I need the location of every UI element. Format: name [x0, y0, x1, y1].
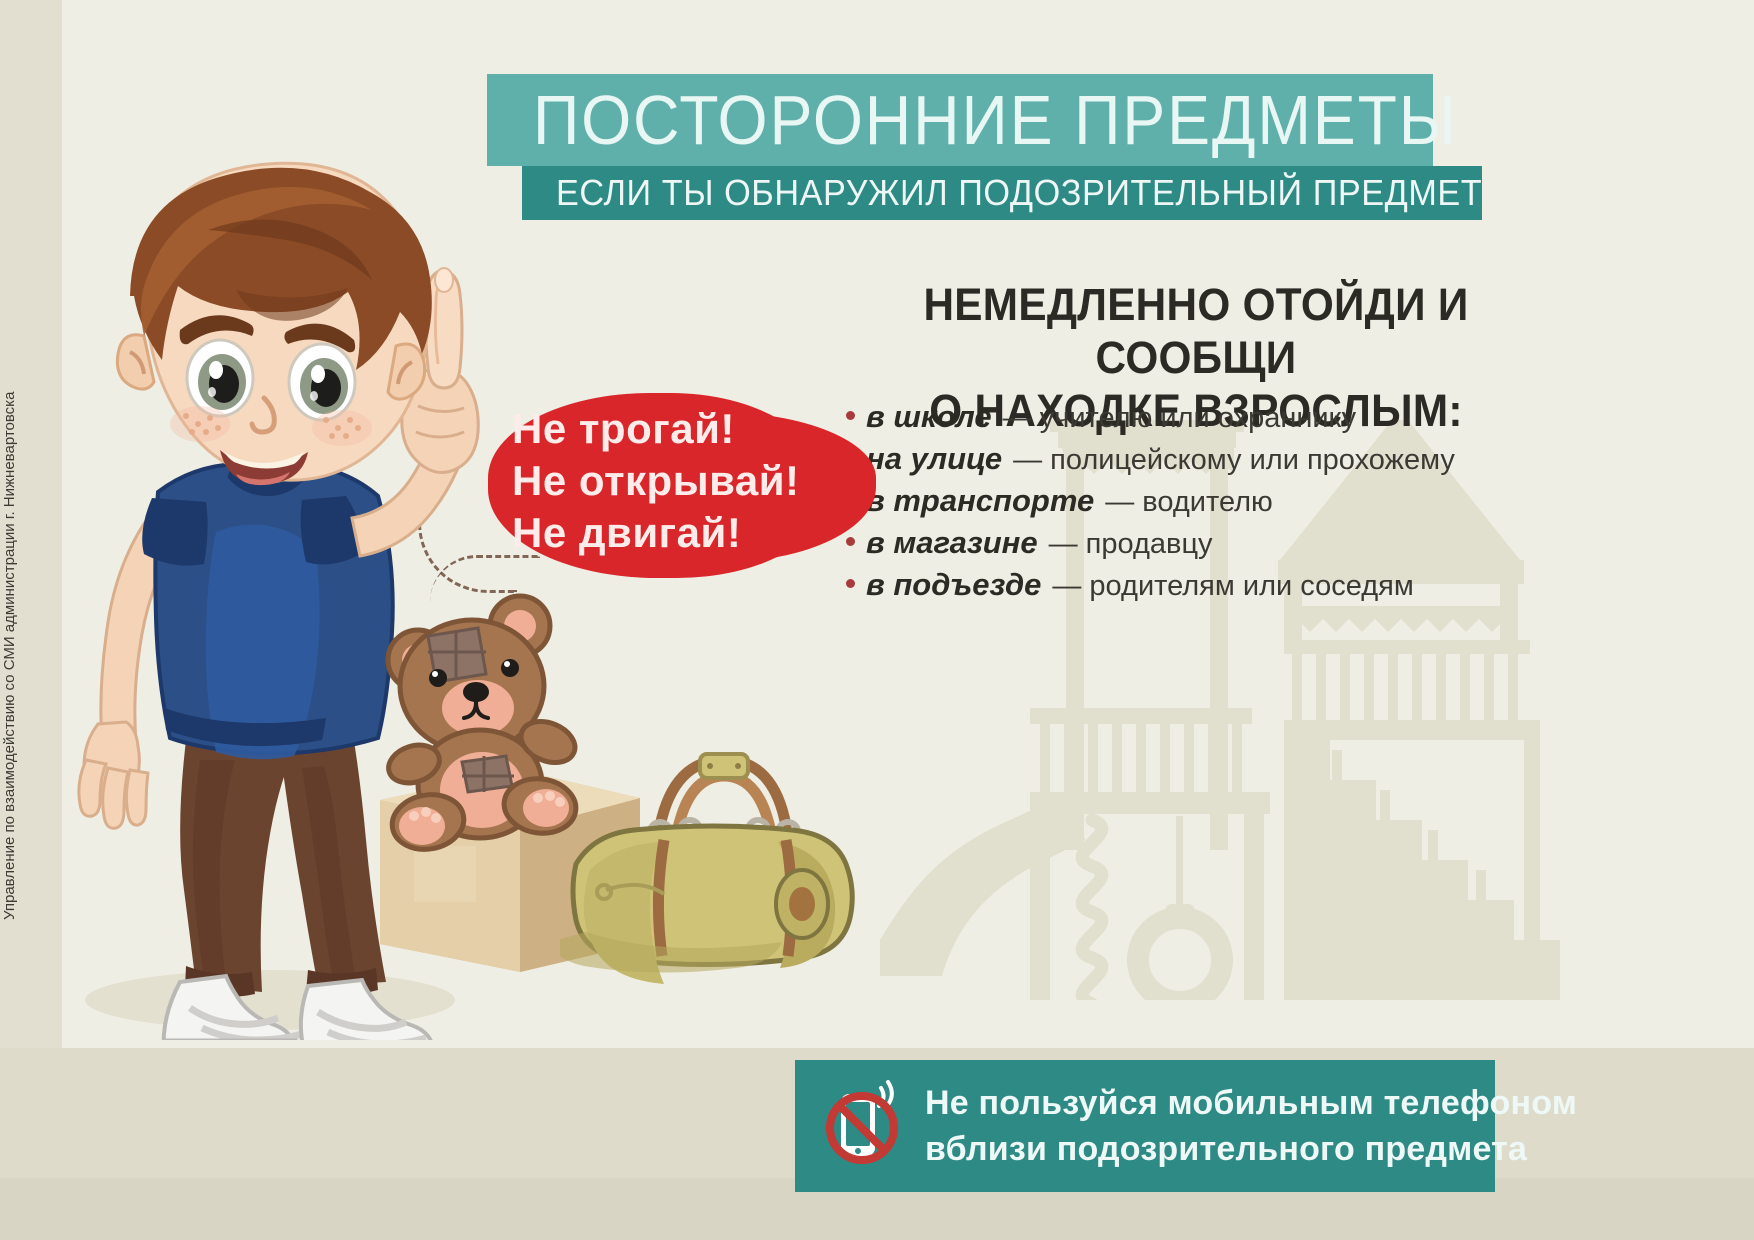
subtitle-banner: ЕСЛИ ТЫ ОБНАРУЖИЛ ПОДОЗРИТЕЛЬНЫЙ ПРЕДМЕТ — [522, 166, 1482, 220]
list-item-detail: — родителям или соседям — [1052, 565, 1413, 607]
list-item-detail: — продавцу — [1049, 523, 1213, 565]
list-item-place: в магазине — [866, 522, 1038, 564]
warning-line-1: Не трогай! — [512, 403, 862, 455]
poster-subtitle: ЕСЛИ ТЫ ОБНАРУЖИЛ ПОДОЗРИТЕЛЬНЫЙ ПРЕДМЕТ — [556, 166, 1428, 220]
bullet-dot-icon — [846, 579, 855, 588]
list-item-place: в подъезде — [866, 564, 1041, 606]
mobile-warning-line1: Не пользуйся мобильным телефоном — [925, 1080, 1485, 1126]
list-item-place: на улице — [866, 438, 1002, 480]
list-item: на улице — полицейскому или прохожему — [846, 438, 1546, 480]
list-item: в магазине — продавцу — [846, 522, 1546, 564]
list-item-detail: — полицейскому или прохожему — [1013, 439, 1455, 481]
list-item-place: в транспорте — [866, 480, 1094, 522]
poster-canvas: Управление по взаимодействию со СМИ адми… — [0, 0, 1754, 1240]
list-item: в транспорте — водителю — [846, 480, 1546, 522]
mobile-phone-warning-banner: Не пользуйся мобильным телефоном вблизи … — [795, 1060, 1495, 1192]
teddy-bear — [384, 596, 581, 855]
mobile-warning-line2: вблизи подозрительного предмета — [925, 1126, 1485, 1172]
list-item: в школе — учителю или охраннику — [846, 396, 1546, 438]
duffel-bag — [560, 720, 860, 990]
instruction-heading-line1: НЕМЕДЛЕННО ОТОЙДИ И СООБЩИ — [858, 278, 1535, 384]
list-item-detail: — водителю — [1105, 481, 1273, 523]
report-to-list: в школе — учителю или охраннику на улице… — [846, 396, 1546, 606]
list-item: в подъезде — родителям или соседям — [846, 564, 1546, 606]
no-mobile-phone-icon — [815, 1076, 915, 1176]
title-banner: ПОСТОРОННИЕ ПРЕДМЕТЫ — [487, 74, 1433, 166]
list-item-detail: — учителю или охраннику — [1003, 397, 1356, 439]
mobile-phone-warning-text: Не пользуйся мобильным телефоном вблизи … — [925, 1080, 1485, 1172]
list-item-place: в школе — [866, 396, 992, 438]
agency-credit-text: Управление по взаимодействию со СМИ адми… — [1, 392, 18, 920]
warning-line-2: Не открывай! — [512, 455, 862, 507]
poster-title: ПОСТОРОННИЕ ПРЕДМЕТЫ — [533, 80, 1352, 160]
